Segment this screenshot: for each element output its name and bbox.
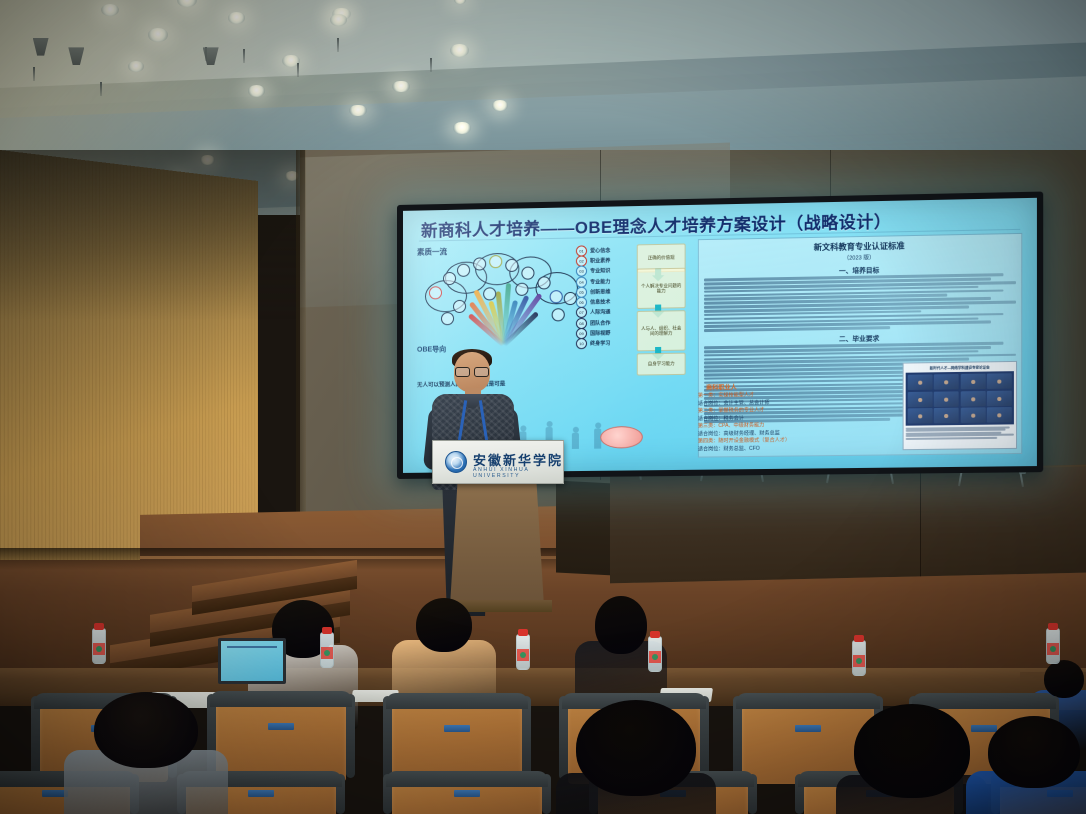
front-row-table-top — [0, 668, 1086, 678]
competency-label: 人际沟通 — [590, 309, 610, 316]
competency-number: 10 — [576, 338, 587, 349]
ceiling-downlight — [450, 44, 469, 57]
competency-number: 03 — [576, 266, 587, 277]
bottle-label — [517, 649, 529, 661]
career-rows: 第一类：实操技能型人才适合岗位：会计主管、总会计师第二类：掌握税务的专业人才适合… — [698, 391, 852, 454]
water-bottle[interactable] — [320, 632, 334, 668]
conference-participant-tile — [987, 407, 1012, 423]
ceiling-downlight — [349, 105, 366, 117]
laptop-screen — [221, 641, 283, 681]
fan-node — [453, 300, 466, 313]
audience-member-long-hair — [556, 700, 716, 814]
ceiling-hanger — [430, 58, 432, 72]
conference-participant-tile — [934, 374, 959, 390]
bottle-cap — [518, 629, 528, 636]
laptop[interactable] — [218, 638, 286, 684]
stage-desk-left-return — [556, 480, 614, 575]
competency-number: 07 — [576, 307, 587, 318]
doc-text-line — [906, 437, 998, 440]
person-figure-icon — [572, 433, 579, 449]
bottle-cap — [854, 635, 864, 642]
competency-item: 10终身学习 — [576, 338, 629, 349]
ceiling-hanger — [243, 49, 245, 63]
competency-label: 创新思维 — [590, 288, 610, 295]
bottle-label — [1047, 643, 1059, 655]
doc-body-1 — [699, 273, 1021, 332]
left-wall-shadow — [0, 150, 305, 320]
desk-seam — [920, 470, 921, 576]
person-head — [576, 700, 696, 796]
competency-fan-diagram — [423, 251, 584, 346]
conference-participant-tile — [960, 390, 985, 406]
auditorium-seat[interactable] — [216, 698, 346, 782]
lecture-hall-photo: 新商科人才培养——OBE理念人才培养方案设计（战略设计） 素质一流 OBE导向 … — [0, 0, 1086, 814]
fan-node — [515, 283, 528, 296]
competency-list: 01爱心信念02职业素养03专业知识04专业能力05创新思维06信息技术07人际… — [576, 245, 629, 350]
conference-participant-tile — [987, 390, 1012, 406]
seat-headrest — [210, 691, 352, 707]
inset-body-lines — [906, 426, 1014, 439]
person-figure-head — [546, 421, 552, 427]
bottle-label — [321, 647, 333, 659]
seat-number-plate — [795, 725, 821, 732]
competency-label: 专业能力 — [590, 278, 610, 285]
ceiling-downlight — [330, 14, 347, 26]
lectern: 安徽新华学院 ANHUI XINHUA UNIVERSITY — [432, 440, 562, 618]
person-figure-head — [595, 422, 601, 428]
water-bottle[interactable] — [92, 628, 106, 664]
bottle-cap — [1048, 623, 1058, 630]
ceiling-downlight — [228, 12, 245, 24]
competency-label: 职业素养 — [590, 257, 610, 264]
group-note: 人与人、组织、社会间的理解力 — [637, 310, 686, 351]
group-note: 自身学习能力 — [637, 353, 686, 376]
competency-label: 爱心信念 — [590, 247, 610, 254]
conference-participant-tile — [908, 374, 933, 390]
person-head — [94, 692, 198, 768]
person-head — [854, 704, 970, 798]
fan-node — [441, 312, 454, 325]
laptop-lid — [218, 638, 286, 684]
water-bottle[interactable] — [648, 636, 662, 672]
bottle-cap — [322, 627, 332, 634]
fan-node — [483, 287, 496, 300]
auditorium-seat[interactable] — [392, 778, 542, 814]
competency-label: 信息技术 — [590, 298, 610, 305]
person-figure-head — [520, 425, 526, 431]
competency-label: 终身学习 — [590, 340, 610, 347]
group-note: 个人解决专业问题的能力 — [637, 268, 686, 309]
ceiling-hanger — [100, 82, 102, 96]
ceiling-downlight — [453, 122, 470, 134]
person-head — [595, 596, 647, 654]
conference-participant-tile — [934, 391, 959, 407]
person-head — [988, 716, 1080, 788]
seat-number-plate — [444, 725, 470, 732]
person-figure-head — [572, 427, 578, 433]
water-bottle[interactable] — [516, 634, 530, 670]
doc-inset-card: 新时代人才—网络学科建设专家论证会 — [903, 361, 1017, 450]
water-bottle[interactable] — [852, 640, 866, 676]
audience-member-blue-shirt — [966, 716, 1086, 814]
stage-desk — [610, 465, 1086, 584]
competency-label: 团队合作 — [590, 319, 610, 326]
video-conference-grid — [906, 371, 1014, 426]
conference-participant-tile — [908, 408, 933, 424]
bottle-cap — [94, 623, 104, 630]
seat-headrest — [386, 693, 528, 709]
conference-participant-tile — [960, 374, 985, 390]
person-head — [1044, 660, 1084, 698]
ceiling-hanger — [337, 38, 339, 52]
bottle-label — [93, 643, 105, 655]
competency-label: 专业知识 — [590, 267, 610, 274]
water-bottle[interactable] — [1046, 628, 1060, 664]
ceiling-hanger — [297, 63, 299, 77]
person-head — [416, 598, 472, 652]
conference-participant-tile — [960, 407, 985, 423]
conference-participant-tile — [934, 408, 959, 424]
bottle-label — [853, 655, 865, 667]
ceiling-hanger — [33, 67, 35, 81]
conference-participant-tile — [987, 373, 1012, 389]
ceiling-downlight — [392, 81, 409, 93]
venue-name-en: ANHUI XINHUA UNIVERSITY — [473, 467, 563, 479]
bottle-cap — [650, 631, 660, 638]
ceiling-downlight — [148, 28, 168, 42]
fan-node — [552, 308, 565, 321]
bottle-label — [649, 651, 661, 663]
seat-headrest — [386, 771, 548, 787]
conference-participant-tile — [908, 391, 933, 407]
lectern-body — [450, 482, 544, 606]
competency-number: 04 — [576, 276, 587, 287]
inset-caption: 新时代人才—网络学科建设专家论证会 — [906, 364, 1014, 371]
seat-number-plate — [248, 790, 274, 797]
seat-back — [216, 698, 346, 782]
ceiling-downlight — [128, 61, 144, 72]
career-title: 商科职业人 — [706, 382, 737, 392]
glasses-icon — [455, 367, 489, 375]
lectern-sign-panel: 安徽新华学院 ANHUI XINHUA UNIVERSITY — [432, 440, 564, 484]
university-logo-icon — [445, 451, 467, 473]
audience-member-grey-shirt — [64, 692, 228, 814]
seat-number-plate — [454, 790, 480, 797]
seat-number-plate — [268, 723, 294, 730]
competency-label: 国际视野 — [590, 330, 610, 337]
